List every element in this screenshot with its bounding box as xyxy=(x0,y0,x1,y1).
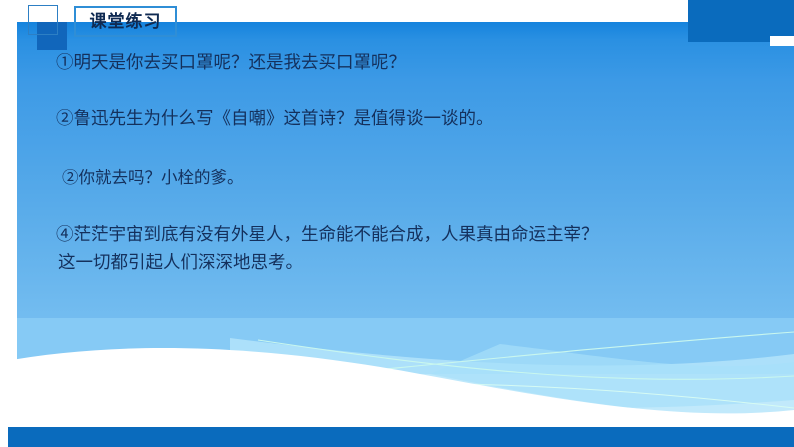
exercise-line-4: ④茫茫宇宙到底有没有外星人，生命能不能合成，人果真由命运主宰？ xyxy=(56,226,599,244)
top-right-white-notch xyxy=(770,36,794,46)
title-box: 课堂练习 xyxy=(74,6,177,37)
slide-canvas: 课堂练习 ①明天是你去买口罩呢？还是我去买口罩呢？ ②鲁迅先生为什么写《自嘲》这… xyxy=(0,0,794,447)
footer-bar-left-notch xyxy=(0,427,8,447)
exercise-line-3: ②你就去吗？小栓的爹。 xyxy=(62,170,244,187)
exercise-line-1: ①明天是你去买口罩呢？还是我去买口罩呢？ xyxy=(56,54,406,72)
exercise-line-2: ②鲁迅先生为什么写《自嘲》这首诗？是值得谈一谈的。 xyxy=(56,110,494,128)
footer-bar xyxy=(0,427,794,447)
page-title: 课堂练习 xyxy=(90,13,162,30)
exercise-line-4-cont: 这一切都引起人们深深地思考。 xyxy=(58,254,303,272)
decorative-square-outline-top xyxy=(28,5,58,22)
